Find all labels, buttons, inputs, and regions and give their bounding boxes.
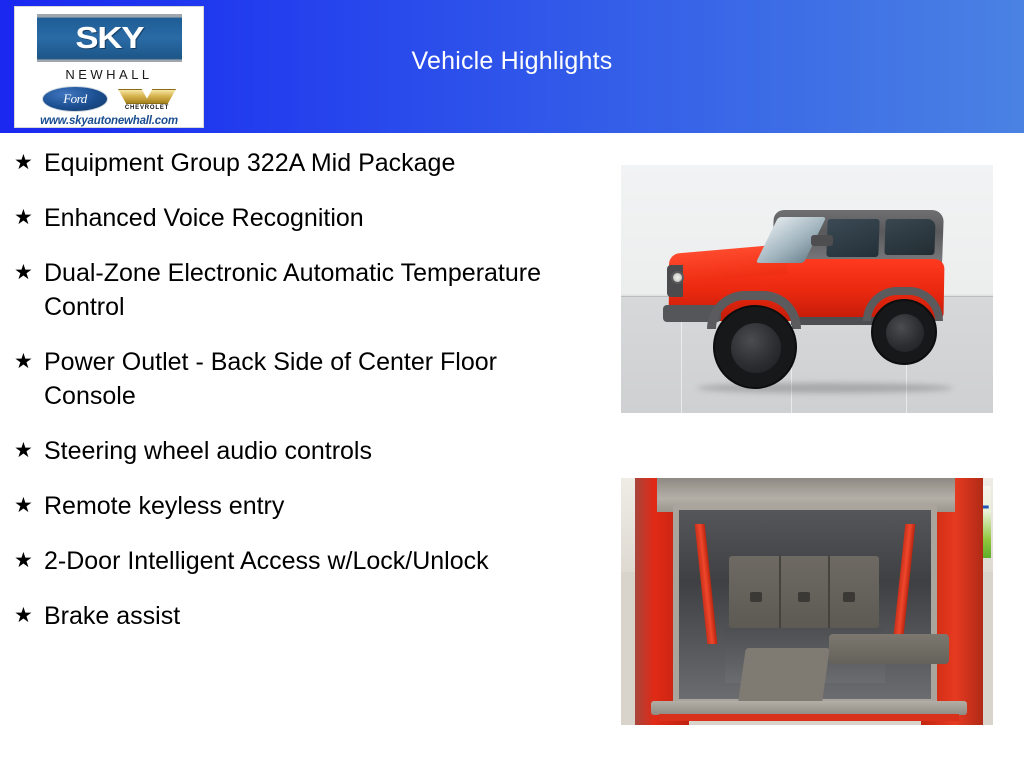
seat-latch-icon xyxy=(750,592,762,602)
seat-latch-icon xyxy=(798,592,810,602)
feature-label: Equipment Group 322A Mid Package xyxy=(44,146,455,180)
rear-seat-backs xyxy=(729,556,879,628)
vehicle-rear-window xyxy=(884,219,935,255)
vehicle-rear-rim xyxy=(886,314,924,352)
slide-root: Vehicle Highlights SKY NEWHALL Ford CHEV… xyxy=(0,0,1024,768)
vehicle-side-mirror xyxy=(811,235,833,246)
list-item: ★ 2-Door Intelligent Access w/Lock/Unloc… xyxy=(0,544,600,578)
dealer-website-label[interactable]: www.skyautonewhall.com xyxy=(40,115,178,127)
vehicle-front-window xyxy=(826,219,879,257)
star-icon: ★ xyxy=(14,544,44,578)
chevrolet-logo: CHEVROLET xyxy=(118,87,176,111)
star-icon: ★ xyxy=(14,201,44,235)
vehicle-highlights-list: ★ Equipment Group 322A Mid Package ★ Enh… xyxy=(0,146,600,654)
vehicle-rear-wheel xyxy=(871,299,937,365)
feature-label: Power Outlet - Back Side of Center Floor… xyxy=(44,345,544,413)
star-icon: ★ xyxy=(14,146,44,180)
dealer-location-label: NEWHALL xyxy=(65,67,152,82)
cargo-opening xyxy=(673,504,937,705)
rear-bumper-trim xyxy=(659,714,959,721)
cargo-cover xyxy=(829,634,949,664)
vehicle-headlight xyxy=(671,271,684,284)
list-item: ★ Remote keyless entry xyxy=(0,489,600,523)
seat-divider xyxy=(779,556,781,628)
seat-divider xyxy=(828,556,830,628)
list-item: ★ Enhanced Voice Recognition xyxy=(0,201,600,235)
star-icon: ★ xyxy=(14,489,44,523)
star-icon: ★ xyxy=(14,345,44,379)
feature-label: 2-Door Intelligent Access w/Lock/Unlock xyxy=(44,544,489,578)
list-item: ★ Equipment Group 322A Mid Package xyxy=(0,146,600,180)
list-item: ★ Dual-Zone Electronic Automatic Tempera… xyxy=(0,256,600,324)
seat-latch-icon xyxy=(843,592,855,602)
list-item: ★ Power Outlet - Back Side of Center Flo… xyxy=(0,345,600,413)
feature-label: Dual-Zone Electronic Automatic Temperatu… xyxy=(44,256,544,324)
list-item: ★ Steering wheel audio controls xyxy=(0,434,600,468)
roll-bar-left xyxy=(695,524,718,644)
vehicle-front-wheel xyxy=(713,305,797,389)
feature-label: Brake assist xyxy=(44,599,180,633)
franchise-logos: Ford CHEVROLET xyxy=(15,86,203,112)
roll-bar-right xyxy=(893,524,916,644)
vehicle-front-rim xyxy=(731,323,781,373)
feature-label: Remote keyless entry xyxy=(44,489,284,523)
cargo-floor xyxy=(725,628,885,683)
sky-wordmark: SKY xyxy=(75,20,143,56)
feature-label: Enhanced Voice Recognition xyxy=(44,201,364,235)
chevrolet-wordmark: CHEVROLET xyxy=(125,105,169,111)
feature-label: Steering wheel audio controls xyxy=(44,434,372,468)
page-header: Vehicle Highlights SKY NEWHALL Ford CHEV… xyxy=(0,0,1024,133)
chevrolet-bowtie-icon xyxy=(118,87,176,104)
vehicle-photo-cargo-area[interactable]: E OF TH xyxy=(621,478,993,725)
cargo-sill xyxy=(651,701,967,715)
star-icon: ★ xyxy=(14,434,44,468)
ford-oval-icon: Ford xyxy=(42,86,108,112)
bronco-illustration xyxy=(651,187,971,387)
ford-wordmark: Ford xyxy=(63,91,87,107)
sky-badge-icon: SKY xyxy=(37,14,182,62)
list-item: ★ Brake assist xyxy=(0,599,600,633)
star-icon: ★ xyxy=(14,599,44,633)
vehicle-photo-exterior[interactable] xyxy=(621,165,993,413)
star-icon: ★ xyxy=(14,256,44,290)
dealer-logo[interactable]: SKY NEWHALL Ford CHEVROLET www.skyautone… xyxy=(14,6,204,128)
